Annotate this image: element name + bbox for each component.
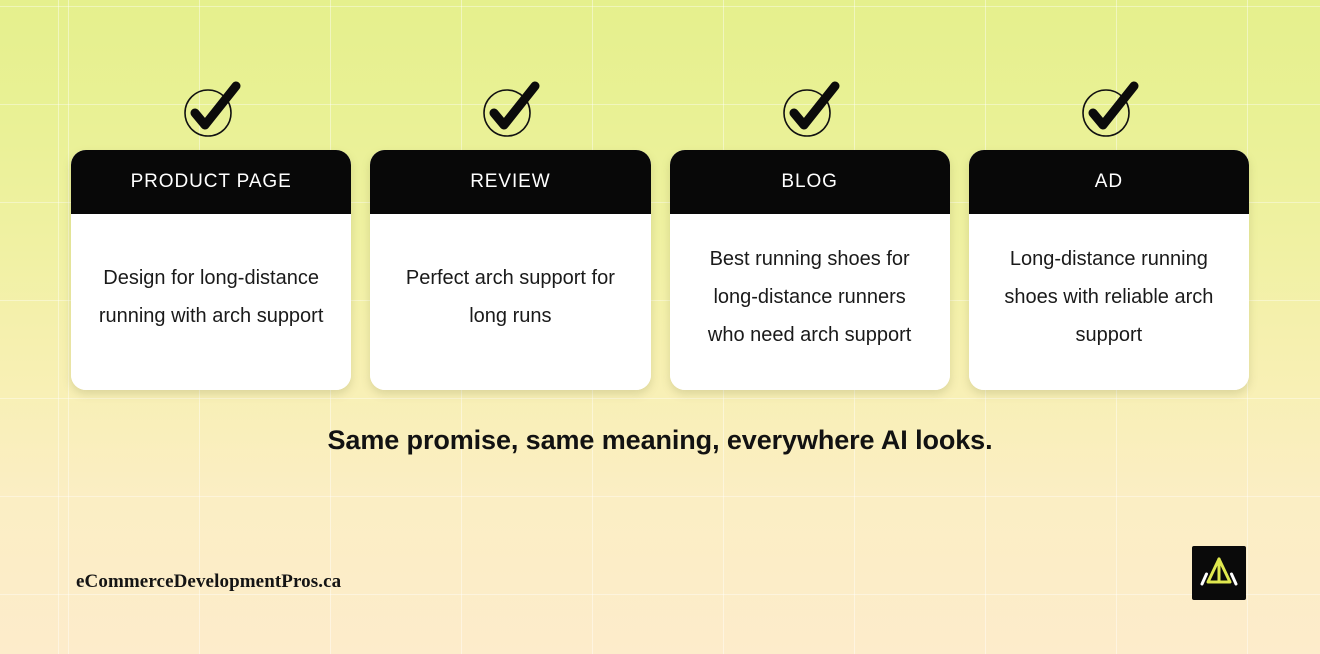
check-circle-icon xyxy=(777,78,843,144)
card-header-label: REVIEW xyxy=(370,150,650,214)
check-circle-icon xyxy=(477,78,543,144)
card-body: Long-distance running shoes with reliabl… xyxy=(969,214,1249,390)
card-body-text: Perfect arch support for long runs xyxy=(395,259,625,335)
card-body: Best running shoes for long-distance run… xyxy=(670,214,950,390)
content-card[interactable]: AD Long-distance running shoes with reli… xyxy=(969,150,1249,390)
check-circle-icon xyxy=(1076,78,1142,144)
content-card[interactable]: PRODUCT PAGE Design for long-distance ru… xyxy=(71,150,351,390)
card-inner: REVIEW Perfect arch support for long run… xyxy=(370,150,650,390)
content-card[interactable]: REVIEW Perfect arch support for long run… xyxy=(370,150,650,390)
card-inner: AD Long-distance running shoes with reli… xyxy=(969,150,1249,390)
triangle-monogram-logo xyxy=(1192,546,1246,600)
card-inner: PRODUCT PAGE Design for long-distance ru… xyxy=(71,150,351,390)
card-body-text: Long-distance running shoes with reliabl… xyxy=(994,240,1224,354)
card-body-text: Best running shoes for long-distance run… xyxy=(695,240,925,354)
tagline-text: Same promise, same meaning, everywhere A… xyxy=(0,425,1320,456)
card-body-text: Design for long-distance running with ar… xyxy=(96,259,326,335)
content-card[interactable]: BLOG Best running shoes for long-distanc… xyxy=(670,150,950,390)
content-card-row: PRODUCT PAGE Design for long-distance ru… xyxy=(71,150,1249,390)
card-header-label: BLOG xyxy=(670,150,950,214)
card-header-label: AD xyxy=(969,150,1249,214)
card-inner: BLOG Best running shoes for long-distanc… xyxy=(670,150,950,390)
card-body: Perfect arch support for long runs xyxy=(370,214,650,390)
card-body: Design for long-distance running with ar… xyxy=(71,214,351,390)
brand-wordmark: eCommerceDevelopmentPros.ca xyxy=(76,571,341,593)
check-circle-icon xyxy=(178,78,244,144)
card-header-label: PRODUCT PAGE xyxy=(71,150,351,214)
poster-canvas: PRODUCT PAGE Design for long-distance ru… xyxy=(0,0,1320,654)
